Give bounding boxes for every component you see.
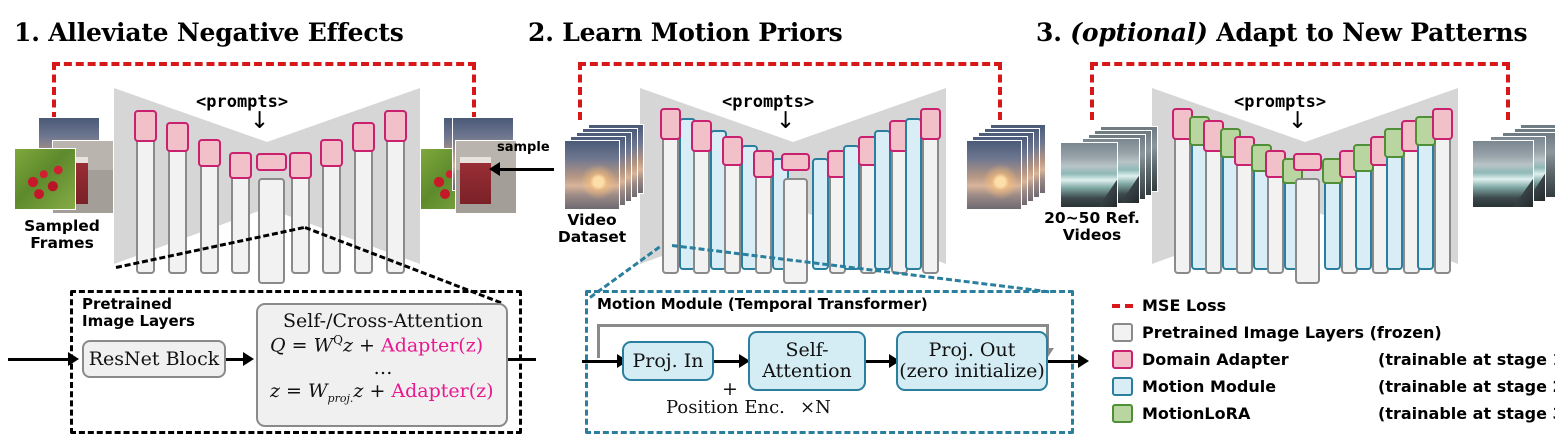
motion-swatch-icon	[1112, 377, 1133, 396]
frozen-layer-bar	[231, 168, 250, 274]
frozen-layer-bar	[662, 128, 679, 274]
domain-adapter-block	[352, 122, 375, 152]
detail-left-input-arrow-line	[8, 358, 70, 361]
domain-adapter-block	[753, 150, 774, 178]
prompts-arrow-stage3: ↓	[1288, 110, 1307, 133]
frozen-layer-bar	[1434, 128, 1451, 274]
sample-arrow-line	[500, 168, 554, 171]
proj-out-box: Proj. Out (zero initialize)	[896, 331, 1048, 391]
panel-title-text-stage3: Adapt to New Patterns	[1216, 18, 1527, 47]
frozen-layer-bar	[1174, 128, 1191, 274]
input-caption-stage1: Sampled Frames	[6, 218, 118, 253]
mse-loss-bracket-stage3	[1090, 62, 1510, 66]
legend-label-adapter: Domain Adapter	[1142, 350, 1289, 369]
legend-label-motion: Motion Module	[1142, 377, 1276, 396]
resnet-block-box: ResNet Block	[82, 340, 226, 378]
attention-equation-z: z = Wproj.z + Adapter(z)	[270, 380, 496, 405]
domain-adapter-block	[1432, 108, 1453, 140]
frozen-layer-bar	[1205, 140, 1222, 274]
domain-adapter-block	[660, 108, 681, 140]
input-thumbnail-berries	[14, 148, 76, 210]
panel-title-text-stage1: Alleviate Negative Effects	[48, 18, 403, 47]
legend-row-frozen: Pretrained Image Layers (frozen)	[1112, 319, 1555, 346]
domain-adapter-block	[320, 139, 343, 167]
legend: MSE Loss Pretrained Image Layers (frozen…	[1112, 292, 1555, 427]
frozen-layer-bar	[724, 155, 741, 274]
domain-adapter-block	[229, 152, 252, 179]
panel-title-stage1: 1. Alleviate Negative Effects	[14, 18, 404, 47]
motion-module-bar	[874, 130, 891, 270]
panel-title-stage2: 2. Learn Motion Priors	[528, 18, 843, 47]
frozen-layer-bar	[1295, 178, 1320, 284]
diagram-root: 1. Alleviate Negative Effects 2. Learn M…	[0, 0, 1555, 442]
mse-loss-bracket-stage1-left	[52, 62, 56, 120]
frozen-layer-bar	[1267, 168, 1284, 274]
frozen-layer-bar	[783, 178, 808, 284]
detail-left-input-arrow-head	[68, 352, 79, 366]
domain-adapter-block	[134, 110, 157, 142]
legend-label-lora: MotionLoRA	[1142, 404, 1250, 423]
mse-loss-bracket-stage1-right	[472, 62, 476, 120]
domain-adapter-block	[1293, 153, 1322, 171]
panel-number-stage3: 3.	[1036, 18, 1062, 47]
domain-adapter-block	[691, 120, 712, 152]
domain-adapter-block	[384, 110, 407, 142]
domain-adapter-block	[198, 139, 221, 167]
legend-row-mse: MSE Loss	[1112, 292, 1555, 319]
frozen-layer-bar	[200, 155, 219, 274]
legend-row-motion: Motion Module (trainable at stage 2)	[1112, 373, 1555, 400]
motion-output-arrow-head	[1078, 354, 1089, 368]
domain-adapter-block	[920, 108, 941, 140]
prompts-label-stage2: <prompts>	[722, 92, 814, 112]
domain-adapter-block	[289, 152, 312, 179]
mse-loss-bracket-stage2-left	[578, 62, 582, 120]
panel-number-stage1: 1.	[14, 18, 40, 47]
domain-adapter-block	[256, 153, 287, 171]
frozen-layer-bar	[322, 155, 341, 274]
prompts-label-stage3: <prompts>	[1234, 92, 1326, 112]
legend-label-frozen: Pretrained Image Layers (frozen)	[1142, 323, 1442, 342]
domain-adapter-block	[781, 153, 810, 171]
detail-left-title: Pretrained Image Layers	[82, 296, 195, 331]
panel-optional-tag-stage3: (optional)	[1070, 18, 1207, 47]
frozen-layer-bar	[136, 128, 155, 274]
proj-in-box: Proj. In	[622, 341, 714, 381]
ref-video-frame	[1060, 142, 1118, 208]
attention-title: Self-/Cross-Attention	[270, 310, 496, 333]
frozen-layer-bar	[922, 128, 939, 274]
mse-loss-bracket-stage2	[578, 62, 1002, 66]
self-attention-box: Self- Attention	[748, 331, 866, 391]
attention-ellipsis: …	[270, 357, 496, 380]
attention-equation-q: Q = WQz + Adapter(z)	[270, 333, 496, 357]
legend-note-adapter: (trainable at stage 1)	[1378, 350, 1555, 369]
sample-arrow-label: sample	[497, 140, 550, 155]
motion-module-bar	[1355, 157, 1372, 270]
output-ref-frame	[1472, 140, 1534, 208]
frozen-layer-bar	[386, 128, 405, 274]
legend-note-motion: (trainable at stage 2)	[1378, 377, 1555, 396]
residual-skip-line-h	[597, 324, 1049, 327]
panel-title-text-stage2: Learn Motion Priors	[562, 18, 842, 47]
motion-module-bar	[905, 118, 922, 270]
position-enc-label: Position Enc.	[666, 397, 785, 418]
frozen-swatch-icon	[1112, 323, 1133, 342]
prompts-arrow-stage2: ↓	[776, 110, 795, 133]
prompts-arrow-stage1: ↓	[250, 110, 269, 133]
domain-adapter-block	[166, 122, 189, 152]
panel-title-stage3: 3. (optional) Adapt to New Patterns	[1036, 18, 1527, 47]
mse-loss-bracket-stage3-right	[1506, 62, 1510, 120]
prompts-label-stage1: <prompts>	[196, 92, 288, 112]
domain-adapter-block	[722, 136, 743, 166]
input-caption-stage3: 20~50 Ref. Videos	[1034, 210, 1150, 245]
mse-loss-bracket-stage1	[52, 62, 476, 66]
sample-arrow-head	[489, 162, 500, 176]
frozen-layer-bar	[1236, 155, 1253, 274]
frozen-layer-bar	[291, 168, 310, 274]
panel-number-stage2: 2.	[528, 18, 554, 47]
attention-equations-box: Self-/Cross-Attention Q = WQz + Adapter(…	[256, 303, 508, 427]
video-dataset-frame	[564, 140, 620, 210]
detail-middle-title: Motion Module (Temporal Transformer)	[597, 296, 928, 313]
mse-loss-swatch-icon	[1112, 304, 1133, 308]
output-video-frame	[966, 140, 1022, 210]
resnet-to-attention-arrow-head	[243, 352, 254, 366]
mse-loss-bracket-stage2-right	[998, 62, 1002, 120]
motion-module-bar	[1417, 130, 1434, 270]
legend-row-adapter: Domain Adapter (trainable at stage 1)	[1112, 346, 1555, 373]
input-caption-stage2: Video Dataset	[536, 212, 648, 247]
legend-note-lora: (trainable at stage 3)	[1378, 404, 1555, 423]
motion-module-bar	[1324, 172, 1341, 270]
adapter-swatch-icon	[1112, 350, 1133, 369]
legend-label-mse: MSE Loss	[1142, 296, 1226, 315]
lora-swatch-icon	[1112, 404, 1133, 423]
mse-loss-bracket-stage3-left	[1090, 62, 1094, 120]
residual-skip-line-left	[597, 324, 600, 358]
times-n-label: ×N	[800, 397, 831, 418]
frozen-layer-bar	[693, 140, 710, 274]
motion-input-arrow-line	[582, 360, 620, 363]
detail-left-output-arrow-line	[508, 358, 536, 361]
legend-row-lora: MotionLoRA (trainable at stage 3)	[1112, 400, 1555, 427]
motion-module-bar	[1386, 142, 1403, 270]
